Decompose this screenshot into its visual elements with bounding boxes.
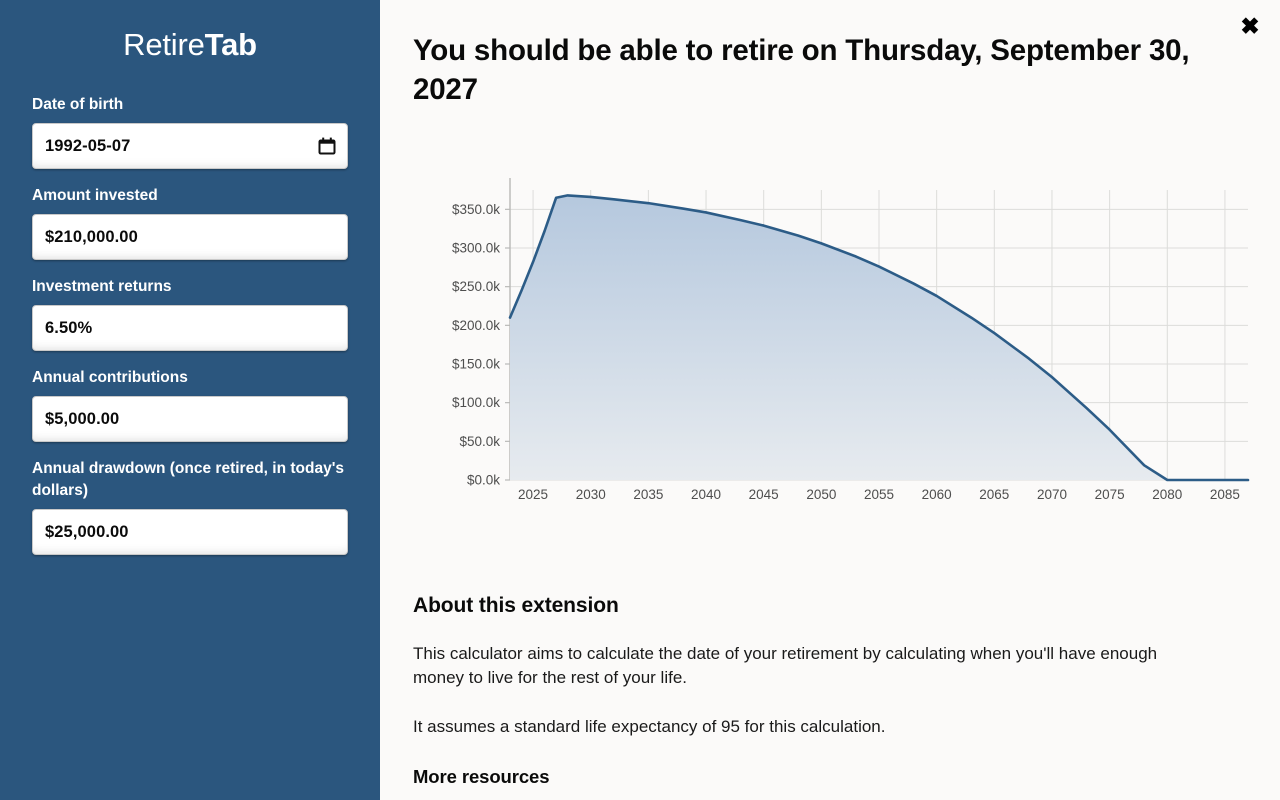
field-annual-drawdown: Annual drawdown (once retired, in today'…	[32, 458, 348, 555]
y-axis-tick-label: $200.0k	[452, 318, 500, 333]
field-label-date-of-birth: Date of birth	[32, 94, 348, 116]
date-of-birth-value: 1992-05-07	[45, 137, 317, 156]
sidebar: RetireTab Date of birth 1992-05-07 Amoun…	[0, 0, 380, 800]
field-label-investment-returns: Investment returns	[32, 276, 348, 298]
page-title: You should be able to retire on Thursday…	[413, 31, 1210, 109]
annual-contributions-input[interactable]: $5,000.00	[32, 396, 348, 442]
logo-text-light: Retire	[123, 27, 205, 62]
amount-invested-value: $210,000.00	[45, 228, 337, 247]
x-axis-tick-label: 2080	[1152, 487, 1182, 502]
about-paragraph-1: This calculator aims to calculate the da…	[413, 642, 1193, 690]
retirement-projection-chart: $0.0k$50.0k$100.0k$150.0k$200.0k$250.0k$…	[380, 130, 1280, 520]
x-axis-tick-label: 2050	[806, 487, 836, 502]
x-axis-tick-label: 2055	[864, 487, 894, 502]
y-axis-tick-label: $350.0k	[452, 202, 500, 217]
x-axis-tick-label: 2070	[1037, 487, 1067, 502]
retiretab-app: RetireTab Date of birth 1992-05-07 Amoun…	[0, 0, 1280, 800]
x-axis-tick-label: 2040	[691, 487, 721, 502]
x-axis-tick-label: 2075	[1095, 487, 1125, 502]
y-axis-tick-label: $50.0k	[459, 434, 500, 449]
x-axis-tick-label: 2030	[576, 487, 606, 502]
amount-invested-input[interactable]: $210,000.00	[32, 214, 348, 260]
investment-returns-value: 6.50%	[45, 319, 337, 338]
chart-svg: $0.0k$50.0k$100.0k$150.0k$200.0k$250.0k$…	[380, 130, 1280, 520]
field-investment-returns: Investment returns 6.50%	[32, 276, 348, 351]
logo-text-bold: Tab	[205, 27, 257, 62]
field-annual-contributions: Annual contributions $5,000.00	[32, 367, 348, 442]
x-axis-tick-label: 2085	[1210, 487, 1240, 502]
more-resources-heading: More resources	[413, 764, 1203, 790]
about-section: About this extension This calculator aim…	[413, 592, 1203, 790]
app-logo: RetireTab	[32, 26, 348, 64]
y-axis-tick-label: $300.0k	[452, 241, 500, 256]
date-of-birth-input[interactable]: 1992-05-07	[32, 123, 348, 169]
field-date-of-birth: Date of birth 1992-05-07	[32, 94, 348, 169]
field-amount-invested: Amount invested $210,000.00	[32, 185, 348, 260]
annual-contributions-value: $5,000.00	[45, 410, 337, 429]
x-axis-tick-label: 2060	[922, 487, 952, 502]
about-paragraph-2: It assumes a standard life expectancy of…	[413, 715, 1193, 739]
y-axis-tick-label: $0.0k	[467, 473, 500, 488]
field-label-annual-contributions: Annual contributions	[32, 367, 348, 389]
field-label-amount-invested: Amount invested	[32, 185, 348, 207]
y-axis-tick-label: $150.0k	[452, 357, 500, 372]
main-content: ✖ You should be able to retire on Thursd…	[380, 0, 1280, 800]
calendar-icon[interactable]	[317, 136, 337, 156]
investment-returns-input[interactable]: 6.50%	[32, 305, 348, 351]
annual-drawdown-input[interactable]: $25,000.00	[32, 509, 348, 555]
annual-drawdown-value: $25,000.00	[45, 523, 337, 542]
x-axis-tick-label: 2045	[749, 487, 779, 502]
x-axis-tick-label: 2035	[633, 487, 663, 502]
y-axis-tick-label: $250.0k	[452, 279, 500, 294]
x-axis-tick-label: 2025	[518, 487, 548, 502]
x-axis-tick-label: 2065	[979, 487, 1009, 502]
y-axis-tick-label: $100.0k	[452, 395, 500, 410]
close-icon[interactable]: ✖	[1237, 13, 1263, 39]
about-heading: About this extension	[413, 592, 1203, 620]
field-label-annual-drawdown: Annual drawdown (once retired, in today'…	[32, 458, 348, 502]
